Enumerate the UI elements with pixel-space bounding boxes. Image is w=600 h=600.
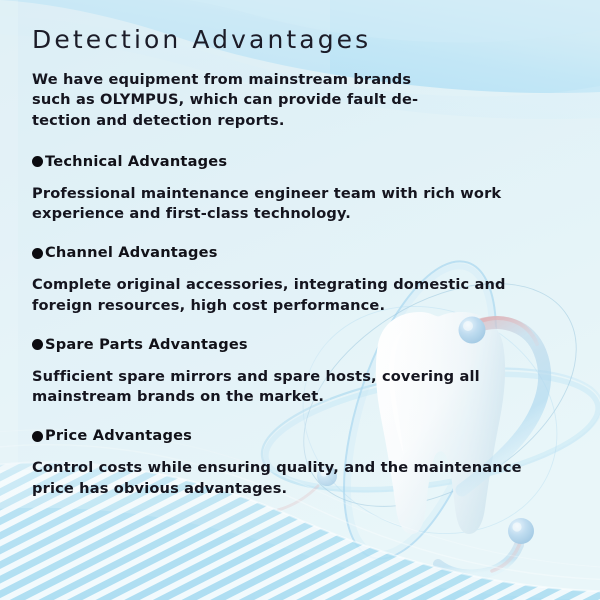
section-technical-advantages: Technical Advantages Professional mainte… <box>32 154 570 225</box>
section-heading-channel: Channel Advantages <box>32 245 570 261</box>
section-body-line: Sufficient spare mirrors and spare hosts… <box>32 367 570 388</box>
section-heading-technical: Technical Advantages <box>32 154 570 170</box>
section-body-line: experience and first-class technology. <box>32 204 570 225</box>
section-body-line: mainstream brands on the market. <box>32 387 570 408</box>
section-body-price: Control costs while ensuring quality, an… <box>32 458 570 499</box>
section-body-line: price has obvious advantages. <box>32 479 570 500</box>
section-body-line: foreign resources, high cost performance… <box>32 296 570 317</box>
filled-circle-bullet-icon <box>32 248 43 259</box>
section-heading-label: Price Advantages <box>45 428 192 444</box>
section-heading-label: Channel Advantages <box>45 245 218 261</box>
filled-circle-bullet-icon <box>32 431 43 442</box>
section-price-advantages: Price Advantages Control costs while ens… <box>32 428 570 499</box>
filled-circle-bullet-icon <box>32 339 43 350</box>
section-body-line: Control costs while ensuring quality, an… <box>32 458 570 479</box>
intro-line-2: such as OLYMPUS, which can provide fault… <box>32 90 570 111</box>
intro-paragraph: We have equipment from mainstream brands… <box>32 70 570 132</box>
section-body-spare-parts: Sufficient spare mirrors and spare hosts… <box>32 367 570 408</box>
poster-content: Detection Advantages We have equipment f… <box>0 0 600 500</box>
section-heading-spare-parts: Spare Parts Advantages <box>32 337 570 353</box>
intro-line-3: tection and detection reports. <box>32 111 570 132</box>
page-title: Detection Advantages <box>32 26 570 54</box>
section-channel-advantages: Channel Advantages Complete original acc… <box>32 245 570 316</box>
section-heading-label: Technical Advantages <box>45 154 227 170</box>
section-heading-label: Spare Parts Advantages <box>45 337 248 353</box>
section-body-channel: Complete original accessories, integrati… <box>32 275 570 316</box>
section-body-technical: Professional maintenance engineer team w… <box>32 184 570 225</box>
section-spare-parts-advantages: Spare Parts Advantages Sufficient spare … <box>32 337 570 408</box>
filled-circle-bullet-icon <box>32 156 43 167</box>
section-body-line: Professional maintenance engineer team w… <box>32 184 570 205</box>
detection-advantages-poster: Detection Advantages We have equipment f… <box>0 0 600 600</box>
intro-line-1: We have equipment from mainstream brands <box>32 70 570 91</box>
section-body-line: Complete original accessories, integrati… <box>32 275 570 296</box>
section-heading-price: Price Advantages <box>32 428 570 444</box>
sphere-node-lower-illustration <box>438 518 534 575</box>
